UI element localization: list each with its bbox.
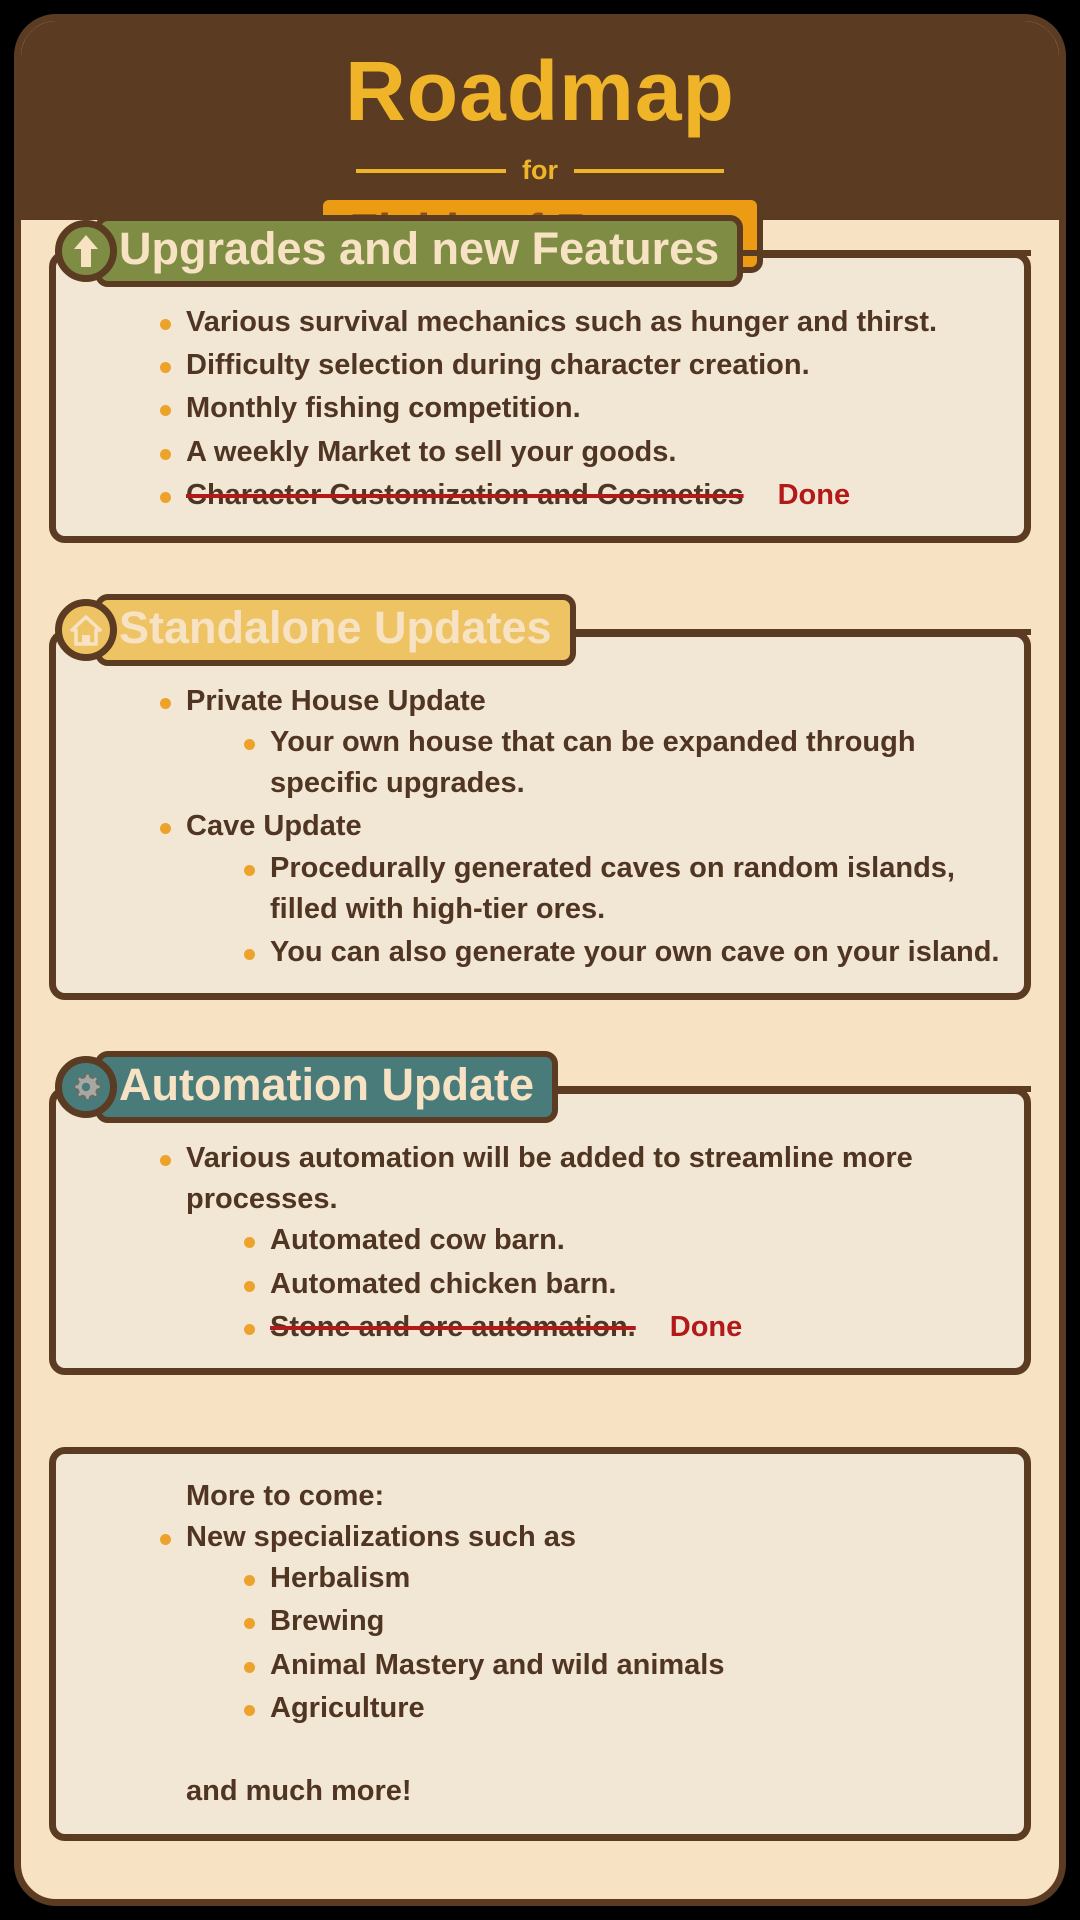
specializations-list: New specializations such as Herbalism Br… xyxy=(80,1517,1000,1729)
list-item: Agriculture xyxy=(240,1688,1000,1729)
roadmap-card: Roadmap for Fields of Fortune Upgrades a… xyxy=(14,14,1066,1906)
section-title-automation: Automation Update xyxy=(95,1051,558,1123)
section-title-upgrades: Upgrades and new Features xyxy=(95,215,743,287)
item-text: You can also generate your own cave on y… xyxy=(270,936,1000,968)
item-text: Agriculture xyxy=(270,1692,425,1724)
list-item: Your own house that can be expanded thro… xyxy=(240,722,1000,804)
more-to-come-intro: More to come: xyxy=(80,1476,1000,1517)
for-label: for xyxy=(522,155,558,186)
header-rule xyxy=(556,1086,1031,1092)
automation-list: Various automation will be added to stre… xyxy=(80,1138,1000,1348)
item-text: Your own house that can be expanded thro… xyxy=(270,726,916,799)
item-text-struck: Character Customization and Cosmetics xyxy=(186,479,744,511)
list-item: Automated chicken barn. xyxy=(240,1264,1000,1305)
section-standalone: Standalone Updates Private House Update … xyxy=(49,599,1031,1000)
more-to-come-footer: and much more! xyxy=(80,1771,1000,1812)
list-item: Various automation will be added to stre… xyxy=(156,1138,1000,1348)
section-content-automation: Various automation will be added to stre… xyxy=(49,1087,1031,1375)
item-text: Animal Mastery and wild animals xyxy=(270,1649,724,1681)
sub-list: Automated cow barn. Automated chicken ba… xyxy=(186,1220,1000,1348)
section-automation: Automation Update Various automation wil… xyxy=(49,1056,1031,1375)
sub-list: Procedurally generated caves on random i… xyxy=(186,848,1000,974)
list-item: Cave Update Procedurally generated caves… xyxy=(156,806,1000,973)
item-text: Monthly fishing competition. xyxy=(186,392,581,424)
list-item: Procedurally generated caves on random i… xyxy=(240,848,1000,930)
header-band: Roadmap for xyxy=(21,21,1059,220)
section-content-upgrades: Various survival mechanics such as hunge… xyxy=(49,251,1031,543)
arrow-up-icon xyxy=(55,220,117,282)
header-rule xyxy=(574,629,1031,635)
item-text: Difficulty selection during character cr… xyxy=(186,349,810,381)
roadmap-body: Upgrades and new Features Various surviv… xyxy=(21,220,1059,1841)
spacer xyxy=(80,1731,1000,1771)
list-item: Various survival mechanics such as hunge… xyxy=(156,302,1000,343)
page-title: Roadmap xyxy=(21,49,1059,133)
item-text: Various automation will be added to stre… xyxy=(186,1142,913,1215)
list-item: Herbalism xyxy=(240,1558,1000,1599)
item-text: Herbalism xyxy=(270,1562,410,1594)
item-text: Automated chicken barn. xyxy=(270,1268,616,1300)
updates-list: Private House Update Your own house that… xyxy=(80,681,1000,973)
item-text: Automated cow barn. xyxy=(270,1224,565,1256)
gear-icon xyxy=(55,1056,117,1118)
sub-list: Your own house that can be expanded thro… xyxy=(186,722,1000,804)
divider-line-right xyxy=(574,169,724,173)
status-badge-done: Done xyxy=(778,475,851,516)
item-text: Procedurally generated caves on random i… xyxy=(270,852,955,925)
item-text: A weekly Market to sell your goods. xyxy=(186,436,676,468)
list-item: Animal Mastery and wild animals xyxy=(240,1645,1000,1686)
list-item: Difficulty selection during character cr… xyxy=(156,345,1000,386)
divider-line-left xyxy=(356,169,506,173)
list-item-done: Character Customization and CosmeticsDon… xyxy=(156,475,1000,516)
item-text: Brewing xyxy=(270,1605,384,1637)
status-badge-done: Done xyxy=(670,1307,743,1348)
item-text: Private House Update xyxy=(186,685,486,717)
section-header-automation: Automation Update xyxy=(55,1056,1031,1118)
list-item: New specializations such as Herbalism Br… xyxy=(156,1517,1000,1729)
sub-list: Herbalism Brewing Animal Mastery and wil… xyxy=(186,1558,1000,1729)
item-text: Various survival mechanics such as hunge… xyxy=(186,306,937,338)
section-title-standalone: Standalone Updates xyxy=(95,594,576,666)
list-item: Brewing xyxy=(240,1601,1000,1642)
item-text-struck: Stone and ore automation. xyxy=(270,1311,636,1343)
more-to-come-content: More to come: New specializations such a… xyxy=(49,1447,1031,1841)
list-item: Monthly fishing competition. xyxy=(156,388,1000,429)
section-content-standalone: Private House Update Your own house that… xyxy=(49,630,1031,1000)
list-item: Private House Update Your own house that… xyxy=(156,681,1000,805)
list-item-done: Stone and ore automation.Done xyxy=(240,1307,1000,1348)
section-more-to-come: More to come: New specializations such a… xyxy=(49,1447,1031,1841)
section-header-standalone: Standalone Updates xyxy=(55,599,1031,661)
section-upgrades: Upgrades and new Features Various surviv… xyxy=(49,220,1031,543)
house-icon xyxy=(55,599,117,661)
feature-list: Various survival mechanics such as hunge… xyxy=(80,302,1000,516)
list-item: You can also generate your own cave on y… xyxy=(240,932,1000,973)
list-item: A weekly Market to sell your goods. xyxy=(156,432,1000,473)
section-header-upgrades: Upgrades and new Features xyxy=(55,220,1031,282)
item-text: Cave Update xyxy=(186,810,362,842)
for-divider-row: for xyxy=(21,155,1059,186)
item-text: New specializations such as xyxy=(186,1521,576,1553)
header-rule xyxy=(741,250,1031,256)
list-item: Automated cow barn. xyxy=(240,1220,1000,1261)
